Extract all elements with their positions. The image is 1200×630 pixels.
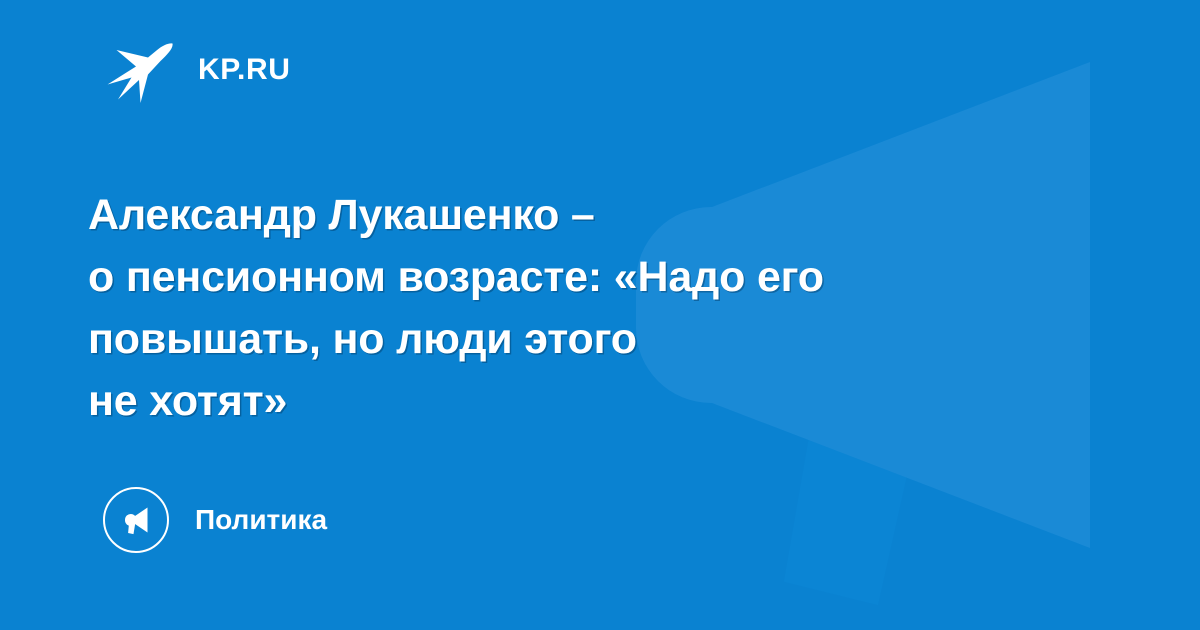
page-title: Александр Лукашенко – о пенсионном возра… bbox=[88, 184, 1098, 432]
social-share-card: KP.RU Александр Лукашенко – о пенсионном… bbox=[0, 0, 1200, 630]
brand-header[interactable]: KP.RU bbox=[104, 36, 290, 104]
swallow-bird-icon bbox=[104, 36, 176, 104]
brand-name: KP.RU bbox=[198, 55, 290, 85]
headline-line-2: о пенсионном возрасте: «Надо его bbox=[88, 246, 1098, 308]
headline-line-4: не хотят» bbox=[88, 370, 1098, 432]
headline-line-3: повышать, но люди этого bbox=[88, 308, 1098, 370]
category-label: Политика bbox=[195, 506, 327, 534]
category-badge[interactable]: Политика bbox=[103, 487, 327, 553]
megaphone-icon bbox=[117, 501, 155, 539]
category-icon-circle bbox=[103, 487, 169, 553]
headline-line-1: Александр Лукашенко – bbox=[88, 184, 1098, 246]
